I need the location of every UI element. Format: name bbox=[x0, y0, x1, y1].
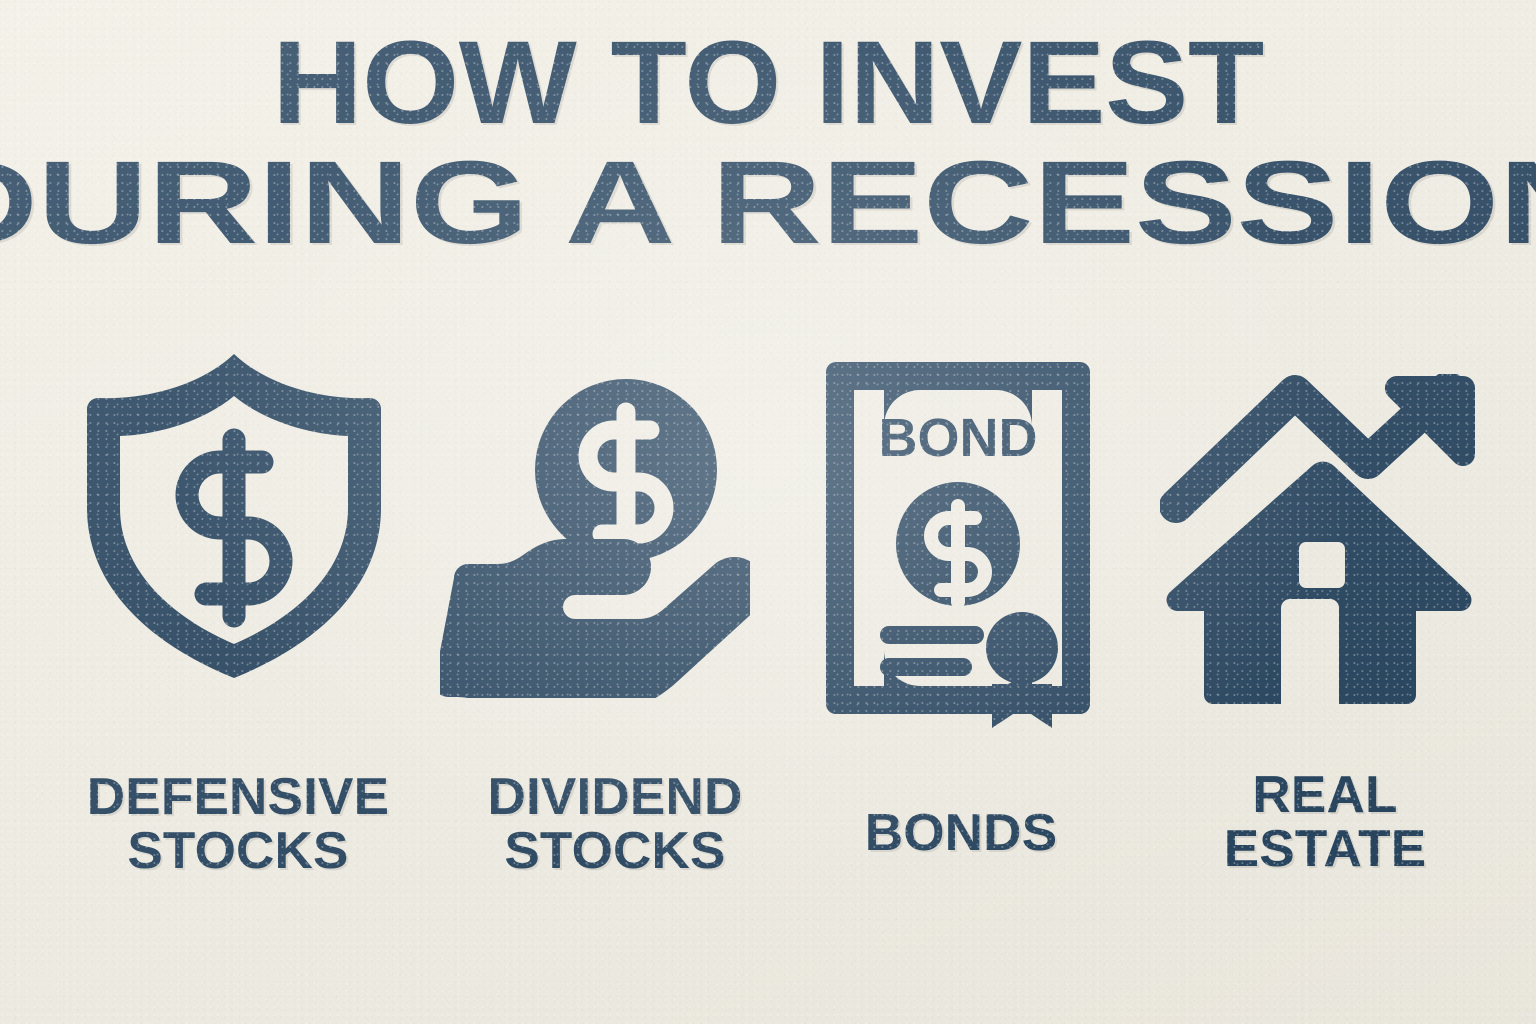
icon-cell-real-estate bbox=[1160, 340, 1490, 730]
title-line-1: HOW TO INVEST bbox=[0, 26, 1536, 142]
bond-certificate-heading: BOND bbox=[879, 408, 1038, 468]
page-title: HOW TO INVEST DURING A RECESSION bbox=[0, 26, 1536, 261]
infographic-poster: HOW TO INVEST DURING A RECESSION bbox=[0, 0, 1536, 1024]
icon-cell-bonds: BOND bbox=[822, 340, 1102, 730]
label-dividend-stocks: DIVIDEND STOCKS bbox=[442, 770, 789, 878]
house-growth-arrow-icon bbox=[1160, 374, 1478, 704]
icon-cell-dividend-stocks bbox=[440, 340, 760, 730]
title-line-2: DURING A RECESSION bbox=[0, 146, 1536, 262]
hand-holding-coin-icon bbox=[440, 368, 750, 698]
certificate-text-line bbox=[880, 626, 984, 644]
certificate-text-line bbox=[880, 658, 972, 676]
shield-dollar-icon bbox=[78, 340, 390, 685]
icon-row: BOND bbox=[0, 340, 1536, 730]
label-real-estate: REAL ESTATE bbox=[1162, 768, 1488, 876]
certificate-ribbon bbox=[992, 684, 1052, 728]
certificate-seal bbox=[986, 612, 1058, 684]
label-defensive-stocks: DEFENSIVE STOCKS bbox=[44, 770, 432, 878]
icon-cell-defensive-stocks bbox=[78, 340, 398, 730]
bond-certificate-icon: BOND bbox=[822, 348, 1094, 728]
house-window bbox=[1299, 542, 1345, 588]
label-bonds: BONDS bbox=[827, 806, 1094, 860]
